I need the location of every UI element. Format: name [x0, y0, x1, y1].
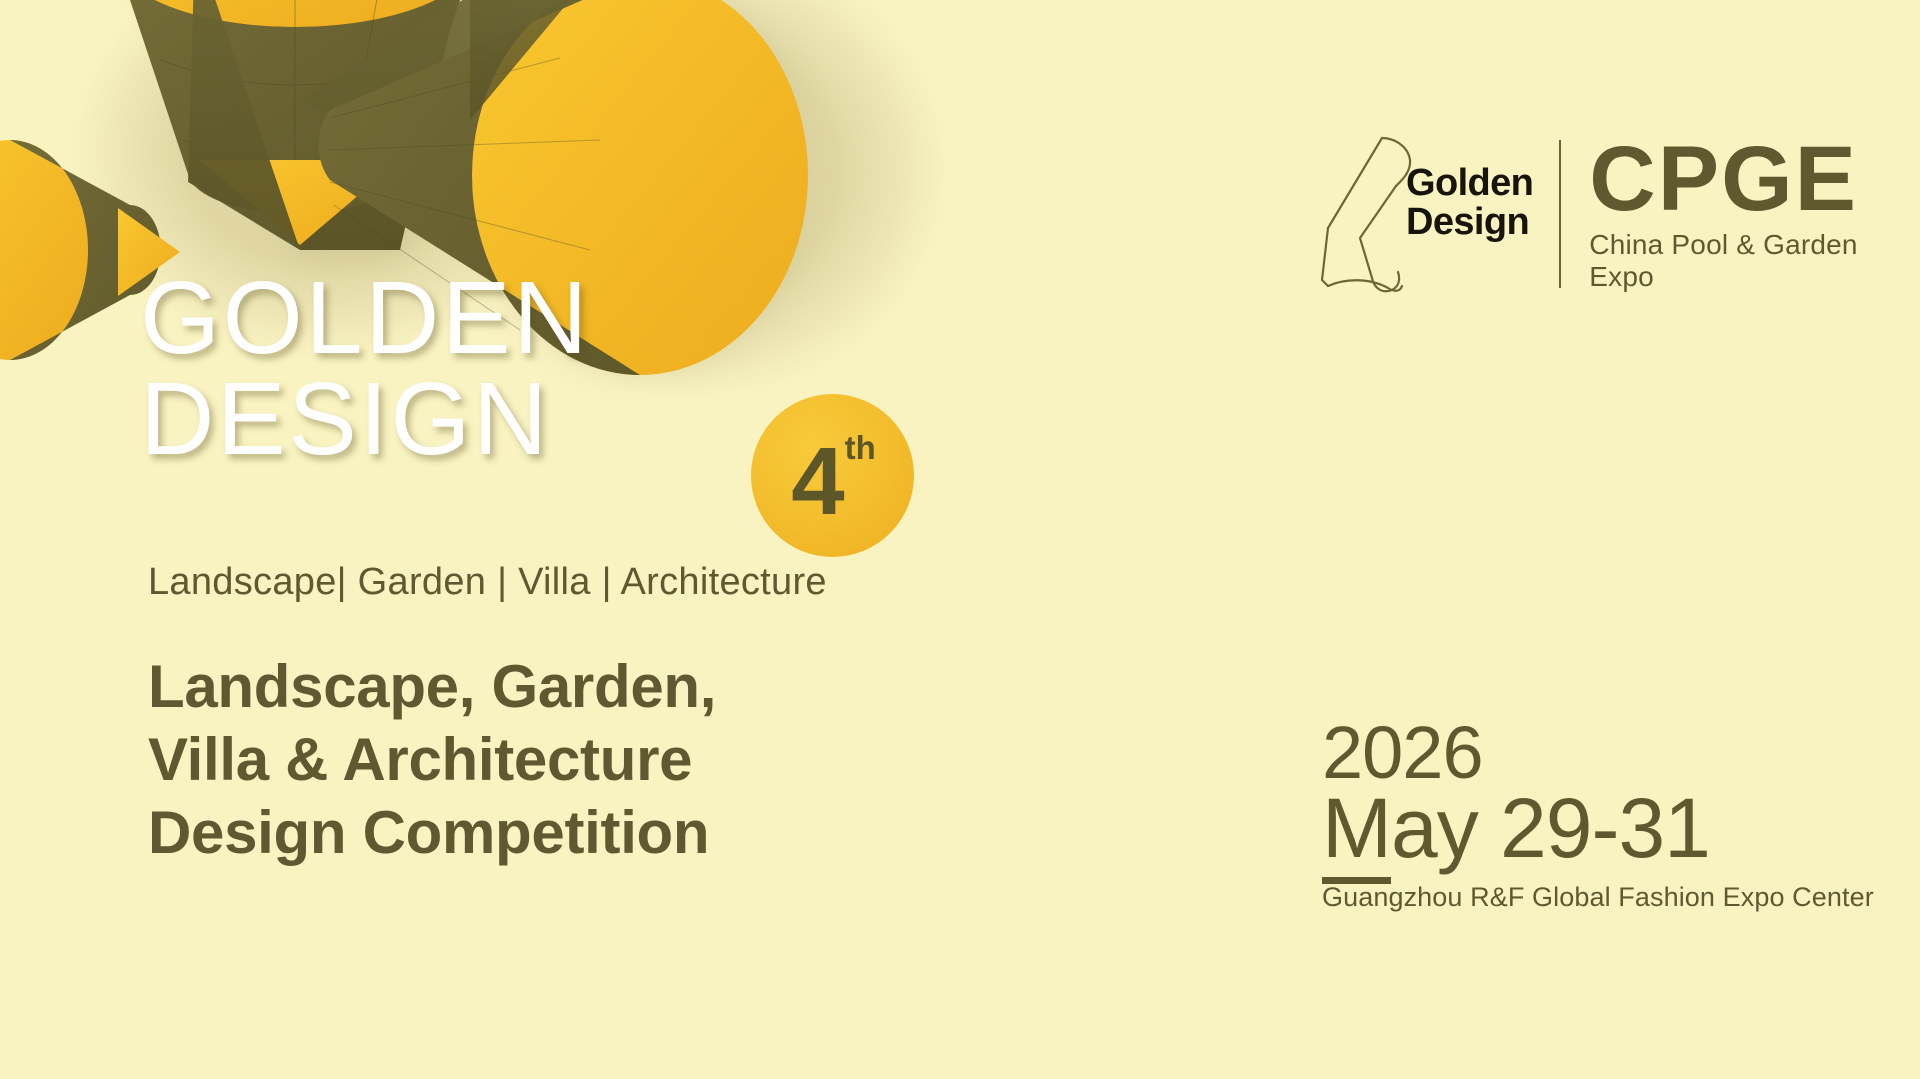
- edition-ordinal-suffix: th: [845, 429, 876, 467]
- event-dates: May 29-31: [1322, 786, 1874, 872]
- golden-design-brand-text: Golden Design: [1406, 164, 1533, 242]
- event-date-month-initial: M: [1322, 781, 1391, 884]
- cpge-expansion: China Pool & Garden Expo: [1589, 229, 1920, 293]
- brand-line-golden: Golden: [1406, 164, 1533, 203]
- cpge-logo-lockup: Golden Design CPGE China Pool & Garden E…: [1310, 128, 1920, 308]
- golden-design-wordmark: GOLDEN DESIGN: [140, 268, 590, 470]
- event-date-block: 2026 May 29-31 Guangzhou R&F Global Fash…: [1322, 718, 1874, 913]
- brand-line-design: Design: [1406, 203, 1533, 242]
- edition-badge: 4th: [751, 394, 914, 557]
- poster-canvas: GOLDEN DESIGN 4th Landscape| Garden | Vi…: [0, 0, 1920, 1079]
- event-venue: Guangzhou R&F Global Fashion Expo Center: [1322, 882, 1874, 913]
- wordmark-line-golden: GOLDEN: [140, 268, 590, 369]
- cpge-text-block: CPGE China Pool & Garden Expo: [1589, 136, 1920, 293]
- edition-number: 4: [791, 434, 842, 530]
- cpge-abbreviation: CPGE: [1589, 136, 1920, 223]
- event-year: 2026: [1322, 718, 1874, 788]
- headline-line-3: Design Competition: [148, 796, 716, 869]
- page-title: Landscape, Garden, Villa & Architecture …: [148, 650, 716, 870]
- headline-line-1: Landscape, Garden,: [148, 650, 716, 723]
- event-date-rest: ay 29-31: [1391, 781, 1710, 875]
- logo-divider: [1559, 140, 1561, 288]
- category-tagline: Landscape| Garden | Villa | Architecture: [148, 561, 827, 604]
- headline-line-2: Villa & Architecture: [148, 723, 716, 796]
- wordmark-line-design: DESIGN: [140, 369, 590, 470]
